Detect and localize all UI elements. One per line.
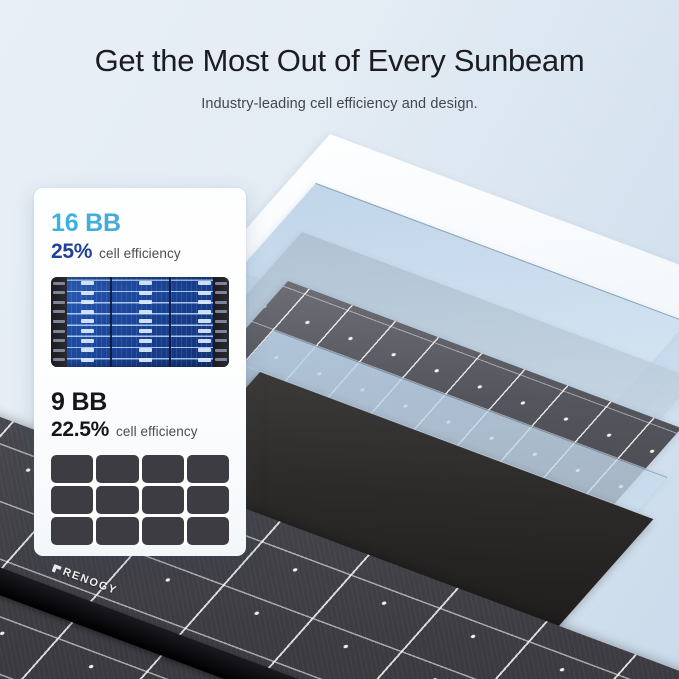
- efficiency-row-16bb: 25% cell efficiency: [51, 240, 229, 264]
- efficiency-value-9bb: 22.5%: [51, 418, 109, 442]
- cell-segment: [96, 455, 138, 483]
- cell-segment: [142, 455, 184, 483]
- cell-solder-pad: [81, 281, 94, 285]
- busbar-title-16bb: 16 BB: [51, 210, 229, 237]
- efficiency-row-9bb: 22.5% cell efficiency: [51, 418, 229, 442]
- cell-vertical-divider: [169, 277, 171, 367]
- cell-solder-pad: [81, 319, 94, 323]
- header: Get the Most Out of Every Sunbeam Indust…: [0, 0, 679, 112]
- cell-solder-pad: [198, 348, 211, 352]
- solar-cell-graphic-16bb: [51, 277, 229, 367]
- busbar-node: [182, 483, 187, 488]
- cell-edge-notch: [215, 301, 227, 304]
- cell-edge-notch: [53, 358, 65, 361]
- page-subtitle: Industry-leading cell efficiency and des…: [0, 96, 679, 112]
- cell-edge-notch: [53, 349, 65, 352]
- busbar-node: [182, 513, 187, 518]
- cell-edge-notch: [215, 349, 227, 352]
- cell-solder-pad: [139, 300, 152, 304]
- cell-segment: [187, 517, 229, 545]
- cell-solder-pad: [81, 291, 94, 295]
- cell-vertical-divider: [110, 277, 112, 367]
- cell-segment: [187, 486, 229, 514]
- cell-solder-pad: [81, 358, 94, 362]
- cell-segment: [96, 486, 138, 514]
- cell-edge-notch: [215, 310, 227, 313]
- cell-solder-pad: [198, 281, 211, 285]
- cell-solder-pad: [198, 329, 211, 333]
- busbar-node: [138, 483, 143, 488]
- cell-segment: [142, 517, 184, 545]
- busbar-node: [93, 513, 98, 518]
- cell-edge-notch: [53, 339, 65, 342]
- cell-solder-pad: [139, 291, 152, 295]
- renogy-mark-icon: [51, 564, 61, 574]
- solar-cell-graphic-9bb: [51, 455, 229, 545]
- cell-solder-pad: [139, 281, 152, 285]
- efficiency-value-16bb: 25%: [51, 240, 92, 264]
- cell-edge-notch: [53, 282, 65, 285]
- efficiency-block-9bb: 9 BB 22.5% cell efficiency: [51, 389, 229, 546]
- cell-segment: [187, 455, 229, 483]
- cell-solder-pad: [139, 329, 152, 333]
- cell-edge-notch: [53, 310, 65, 313]
- cell-solder-pad: [139, 358, 152, 362]
- cell-solder-pad: [198, 291, 211, 295]
- cell-segment: [51, 455, 93, 483]
- cell-edge-notch: [53, 291, 65, 294]
- cell-solder-pad: [198, 358, 211, 362]
- cell-solder-pad: [81, 300, 94, 304]
- cell-solder-pad: [139, 339, 152, 343]
- efficiency-label-9bb: cell efficiency: [116, 424, 198, 439]
- cell-edge-notch: [53, 330, 65, 333]
- busbar-title-9bb: 9 BB: [51, 389, 229, 416]
- cell-edge-notch: [215, 291, 227, 294]
- cell-solder-pad: [81, 339, 94, 343]
- cell-segment: [142, 486, 184, 514]
- cell-solder-pad: [198, 310, 211, 314]
- cell-solder-pad: [198, 319, 211, 323]
- cell-solder-pad: [81, 329, 94, 333]
- busbar-node: [93, 483, 98, 488]
- cell-edge-notch: [215, 330, 227, 333]
- cell-edge-notch: [53, 320, 65, 323]
- efficiency-label-16bb: cell efficiency: [99, 246, 181, 261]
- cell-segment: [51, 486, 93, 514]
- cell-solder-pad: [198, 300, 211, 304]
- cell-solder-pad: [198, 339, 211, 343]
- cell-solder-pad: [139, 310, 152, 314]
- cell-edge-notch: [215, 320, 227, 323]
- cell-edge-notch: [53, 301, 65, 304]
- efficiency-comparison-card: 16 BB 25% cell efficiency 9 BB 22.5% cel…: [34, 188, 246, 556]
- page-title: Get the Most Out of Every Sunbeam: [0, 45, 679, 76]
- cell-segment: [96, 517, 138, 545]
- efficiency-block-16bb: 16 BB 25% cell efficiency: [51, 210, 229, 367]
- cell-segment: [51, 517, 93, 545]
- cell-edge-right-icon: [213, 277, 229, 367]
- cell-solder-pad: [139, 319, 152, 323]
- cell-edge-notch: [215, 282, 227, 285]
- cell-edge-notch: [215, 358, 227, 361]
- cell-edge-left-icon: [51, 277, 67, 367]
- cell-edge-notch: [215, 339, 227, 342]
- busbar-node: [138, 513, 143, 518]
- cell-solder-pad: [81, 348, 94, 352]
- cell-solder-pad: [81, 310, 94, 314]
- cell-solder-pad: [139, 348, 152, 352]
